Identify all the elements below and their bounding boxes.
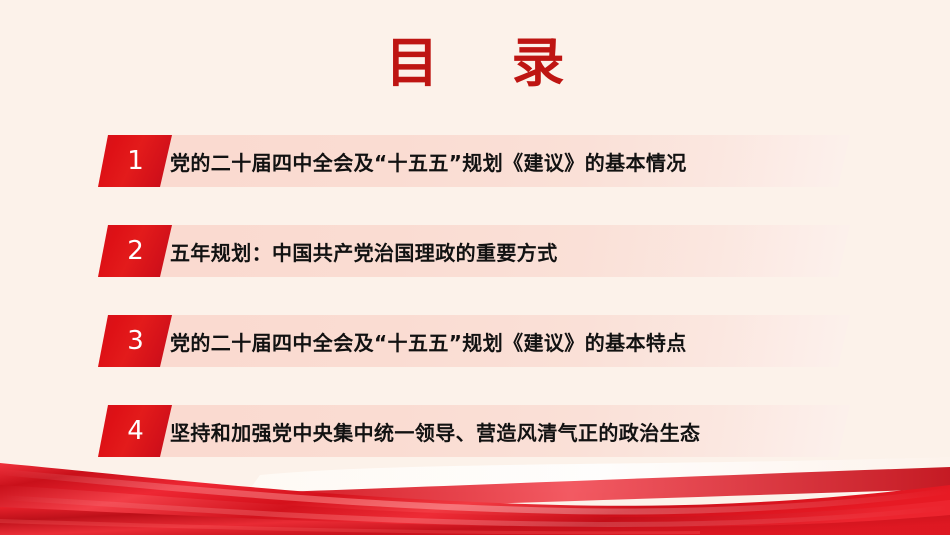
toc-item-3[interactable]: 3 党的二十届四中全会及“十五五”规划《建议》的基本特点 (98, 315, 850, 367)
toc-item-number: 1 (98, 135, 172, 187)
toc-item-2[interactable]: 2 五年规划：中国共产党治国理政的重要方式 (98, 225, 850, 277)
toc-item-label: 坚持和加强党中央集中统一领导、营造风清气正的政治生态 (170, 405, 700, 457)
toc-item-4[interactable]: 4 坚持和加强党中央集中统一领导、营造风清气正的政治生态 (98, 405, 850, 457)
toc-item-number: 2 (98, 225, 172, 277)
toc-item-number: 3 (98, 315, 172, 367)
toc-item-label: 党的二十届四中全会及“十五五”规划《建议》的基本情况 (170, 135, 687, 187)
toc-item-1[interactable]: 1 党的二十届四中全会及“十五五”规划《建议》的基本情况 (98, 135, 850, 187)
toc-item-label: 党的二十届四中全会及“十五五”规划《建议》的基本特点 (170, 315, 687, 367)
red-silk-ribbon (0, 455, 950, 535)
presentation-slide: 目 录 1 党的二十届四中全会及“十五五”规划《建议》的基本情况 2 五年规划：… (0, 0, 950, 535)
toc-item-number: 4 (98, 405, 172, 457)
page-title: 目 录 (0, 33, 950, 95)
toc-item-label: 五年规划：中国共产党治国理政的重要方式 (170, 225, 558, 277)
